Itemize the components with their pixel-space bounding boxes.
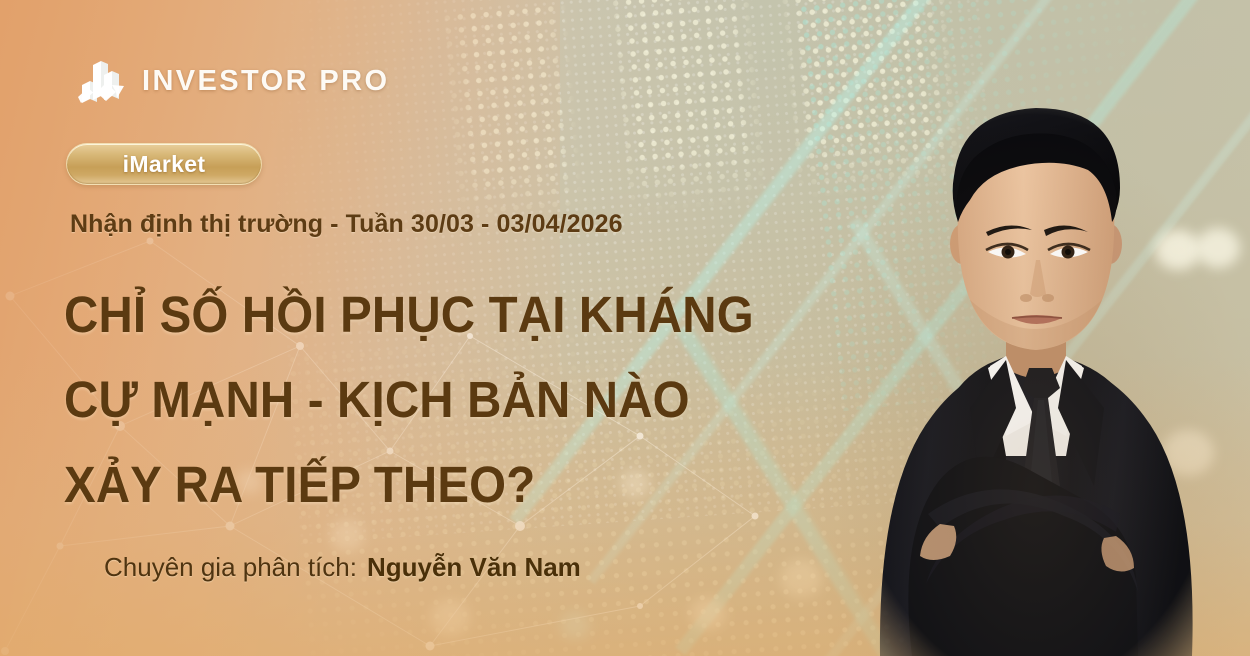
banner-content: INVESTOR PRO iMarket Nhận định thị trườn…: [0, 0, 1250, 656]
analyst-byline: Chuyên gia phân tích:Nguyễn Văn Nam: [104, 552, 581, 583]
imarket-badge-label: iMarket: [123, 151, 206, 178]
analyst-label: Chuyên gia phân tích:: [104, 552, 357, 582]
headline-line-2: CỰ MẠNH - KỊCH BẢN NÀO: [64, 357, 808, 442]
report-subtitle: Nhận định thị trường - Tuần 30/03 - 03/0…: [70, 210, 623, 239]
analyst-name: Nguyễn Văn Nam: [367, 552, 581, 582]
imarket-badge[interactable]: iMarket: [66, 143, 262, 185]
bar-chart-arrow-icon: [72, 55, 128, 107]
headline-line-3: XẢY RA TIẾP THEO?: [64, 442, 808, 527]
market-report-banner: INVESTOR PRO iMarket Nhận định thị trườn…: [0, 0, 1250, 656]
brand-logo[interactable]: INVESTOR PRO: [72, 55, 389, 107]
brand-name: INVESTOR PRO: [142, 65, 389, 98]
headline-line-1: CHỈ SỐ HỒI PHỤC TẠI KHÁNG: [64, 272, 808, 357]
headline-block: CHỈ SỐ HỒI PHỤC TẠI KHÁNG CỰ MẠNH - KỊCH…: [64, 272, 864, 527]
